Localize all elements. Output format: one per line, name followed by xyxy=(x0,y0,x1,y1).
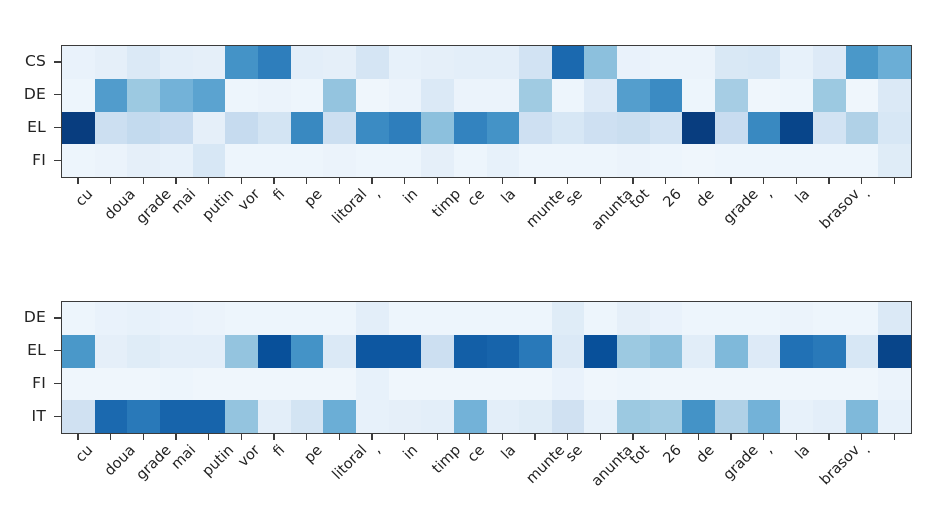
x-axis-tick-mark xyxy=(290,177,323,184)
x-axis-label-slot: munte xyxy=(518,185,551,255)
heatmap-cell xyxy=(291,144,324,177)
heatmap-cell xyxy=(421,335,454,368)
x-axis-tick-mark xyxy=(486,433,519,440)
heatmap-cell xyxy=(95,400,128,433)
x-axis-label-slot: vor xyxy=(224,441,257,511)
heatmap-cell xyxy=(127,112,160,145)
x-axis-label-slot: fi xyxy=(257,441,290,511)
y-axis-tick-mark xyxy=(54,111,61,144)
heatmap-cell xyxy=(519,46,552,79)
heatmap-cell xyxy=(356,112,389,145)
heatmap-cell xyxy=(95,368,128,401)
y-axis-tick-mark xyxy=(54,367,61,400)
x-axis-tick-label: , xyxy=(762,187,776,201)
x-axis-label-slot: munte xyxy=(518,441,551,511)
x-axis-tick-label: fi xyxy=(271,443,288,460)
x-axis-ticks-top xyxy=(61,177,910,184)
x-axis-tick-mark xyxy=(616,433,649,440)
x-axis-tick-label: la xyxy=(793,187,812,206)
heatmap-cell xyxy=(813,368,846,401)
heatmap-cell xyxy=(160,368,193,401)
heatmap-cell xyxy=(715,144,748,177)
heatmap-cell xyxy=(487,335,520,368)
heatmap-cell xyxy=(291,112,324,145)
heatmap-cell xyxy=(617,335,650,368)
x-axis-label-slot: litoral xyxy=(322,185,355,255)
heatmap-cell xyxy=(193,79,226,112)
x-axis-label-slot: timp xyxy=(420,441,453,511)
heatmap-cell xyxy=(519,335,552,368)
heatmap-cell xyxy=(682,335,715,368)
x-axis-tick-mark xyxy=(551,177,584,184)
heatmap-cell xyxy=(323,368,356,401)
x-axis-tick-mark xyxy=(126,433,159,440)
x-axis-tick-mark xyxy=(518,177,551,184)
heatmap-cell xyxy=(258,400,291,433)
heatmap-cell xyxy=(748,112,781,145)
y-axis-tick-label: CS xyxy=(0,45,52,78)
heatmap-cell xyxy=(813,335,846,368)
heatmap-cell xyxy=(62,302,95,335)
x-axis-tick-mark xyxy=(290,433,323,440)
heatmap-cell xyxy=(878,335,911,368)
heatmap-cells-bottom xyxy=(62,302,911,433)
x-axis-label-slot: la xyxy=(486,441,519,511)
y-axis-tick-mark xyxy=(54,45,61,78)
heatmap-plot-bottom xyxy=(61,301,912,434)
heatmap-cell xyxy=(650,112,683,145)
heatmap-cell xyxy=(650,368,683,401)
heatmap-cell xyxy=(487,144,520,177)
x-axis-label-slot: mai xyxy=(159,185,192,255)
heatmap-cell xyxy=(584,79,617,112)
y-axis-tick-label: IT xyxy=(0,399,52,432)
heatmap-cell xyxy=(748,46,781,79)
x-axis-label-slot: in xyxy=(388,185,421,255)
x-axis-label-slot: doua xyxy=(94,185,127,255)
x-axis-tick-mark xyxy=(779,433,812,440)
x-axis-tick-mark xyxy=(551,433,584,440)
heatmap-cell xyxy=(748,302,781,335)
heatmap-cell xyxy=(193,302,226,335)
heatmap-cell xyxy=(225,144,258,177)
heatmap-cell xyxy=(650,144,683,177)
heatmap-cell xyxy=(225,368,258,401)
x-axis-label-slot: vor xyxy=(224,185,257,255)
heatmap-cell xyxy=(193,112,226,145)
heatmap-cell xyxy=(780,368,813,401)
y-axis-ticks-top xyxy=(54,45,61,176)
heatmap-cell xyxy=(846,302,879,335)
x-axis-tick-label: in xyxy=(401,443,421,463)
x-axis-label-slot: timp xyxy=(420,185,453,255)
heatmap-cell xyxy=(519,368,552,401)
x-axis-label-slot: , xyxy=(355,441,388,511)
heatmap-cell xyxy=(160,400,193,433)
x-axis-tick-mark xyxy=(616,177,649,184)
x-axis-label-slot: putin xyxy=(192,441,225,511)
heatmap-cell xyxy=(421,400,454,433)
heatmap-cell xyxy=(454,302,487,335)
heatmap-cell xyxy=(160,112,193,145)
heatmap-cell xyxy=(356,79,389,112)
x-axis-label-slot xyxy=(877,185,910,255)
heatmap-cell xyxy=(258,335,291,368)
x-axis-tick-mark xyxy=(224,177,257,184)
x-axis-label-slot: ce xyxy=(453,441,486,511)
heatmap-cell xyxy=(193,144,226,177)
x-axis-tick-mark xyxy=(583,433,616,440)
heatmap-cell xyxy=(356,335,389,368)
heatmap-cell xyxy=(715,368,748,401)
x-axis-tick-label: , xyxy=(762,443,776,457)
heatmap-cell xyxy=(225,112,258,145)
x-axis-label-slot: in xyxy=(388,441,421,511)
x-axis-label-slot: fi xyxy=(257,185,290,255)
heatmap-cell xyxy=(95,335,128,368)
heatmap-cell xyxy=(780,400,813,433)
x-axis-tick-mark xyxy=(812,433,845,440)
heatmap-cell xyxy=(95,112,128,145)
x-axis-tick-mark xyxy=(845,433,878,440)
x-axis-label-slot: litoral xyxy=(322,441,355,511)
x-axis-tick-mark xyxy=(94,433,127,440)
x-axis-tick-mark xyxy=(747,177,780,184)
heatmap-cell xyxy=(62,144,95,177)
x-axis-labels-top: cudouagrademaiputinvorfipelitoral,intimp… xyxy=(61,185,910,255)
x-axis-tick-mark xyxy=(681,177,714,184)
heatmap-cell xyxy=(323,335,356,368)
heatmap-cell xyxy=(95,46,128,79)
x-axis-label-slot: 26 xyxy=(649,441,682,511)
heatmap-cell xyxy=(682,46,715,79)
heatmap-cell xyxy=(878,302,911,335)
x-axis-labels-bottom: cudouagrademaiputinvorfipelitoral,intimp… xyxy=(61,441,910,511)
x-axis-tick-mark xyxy=(681,433,714,440)
heatmap-cell xyxy=(813,112,846,145)
heatmap-cell xyxy=(160,335,193,368)
heatmap-cell xyxy=(748,400,781,433)
heatmap-cell xyxy=(389,335,422,368)
x-axis-tick-mark xyxy=(126,177,159,184)
x-axis-tick-label: la xyxy=(793,443,812,462)
x-axis-tick-mark xyxy=(388,433,421,440)
x-axis-label-slot: 26 xyxy=(649,185,682,255)
x-axis-label-slot: . xyxy=(845,185,878,255)
heatmap-cell xyxy=(813,46,846,79)
x-axis-tick-mark xyxy=(159,177,192,184)
y-axis-tick-mark xyxy=(54,78,61,111)
heatmap-cell xyxy=(127,144,160,177)
heatmap-cell xyxy=(617,46,650,79)
heatmap-cell xyxy=(617,112,650,145)
x-axis-tick-mark xyxy=(355,177,388,184)
x-axis-tick-mark xyxy=(747,433,780,440)
heatmap-cell xyxy=(878,79,911,112)
y-axis-labels-top: CSDEELFI xyxy=(0,45,52,176)
x-axis-tick-mark xyxy=(224,433,257,440)
x-axis-label-slot: , xyxy=(747,185,780,255)
heatmap-cell xyxy=(454,46,487,79)
x-axis-tick-mark xyxy=(453,177,486,184)
heatmap-cell xyxy=(617,79,650,112)
x-axis-tick-mark xyxy=(486,177,519,184)
heatmap-cell xyxy=(519,144,552,177)
heatmap-cell xyxy=(225,46,258,79)
heatmap-cell xyxy=(160,79,193,112)
heatmap-cell xyxy=(780,46,813,79)
x-axis-tick-mark xyxy=(388,177,421,184)
x-axis-label-slot: anunta xyxy=(583,441,616,511)
x-axis-tick-mark xyxy=(877,433,910,440)
heatmap-cell xyxy=(291,335,324,368)
heatmap-cell xyxy=(584,400,617,433)
heatmap-panel-bottom: DEELFIIT cudouagrademaiputinvorfipelitor… xyxy=(0,256,942,512)
heatmap-cell xyxy=(258,368,291,401)
x-axis-label-slot: pe xyxy=(290,441,323,511)
heatmap-cell xyxy=(487,302,520,335)
x-axis-tick-label: se xyxy=(564,443,586,465)
heatmap-cell xyxy=(748,335,781,368)
x-axis-tick-label: la xyxy=(499,443,518,462)
heatmap-cell xyxy=(95,302,128,335)
x-axis-label-slot: anunta xyxy=(583,185,616,255)
y-axis-tick-label: FI xyxy=(0,143,52,176)
x-axis-label-slot: la xyxy=(486,185,519,255)
heatmap-cell xyxy=(748,368,781,401)
heatmap-cell xyxy=(780,302,813,335)
x-axis-tick-label: . xyxy=(860,187,874,201)
x-axis-tick-label: la xyxy=(499,187,518,206)
heatmap-cell xyxy=(846,112,879,145)
heatmap-cell xyxy=(519,400,552,433)
y-axis-tick-label: FI xyxy=(0,367,52,400)
heatmap-cell xyxy=(878,144,911,177)
heatmap-cell xyxy=(682,112,715,145)
heatmap-cell xyxy=(813,400,846,433)
heatmap-cell xyxy=(813,302,846,335)
heatmap-cell xyxy=(62,368,95,401)
heatmap-cell xyxy=(258,79,291,112)
y-axis-tick-label: DE xyxy=(0,78,52,111)
heatmap-cell xyxy=(127,302,160,335)
heatmap-cell xyxy=(519,79,552,112)
heatmap-cell xyxy=(193,335,226,368)
heatmap-cell xyxy=(650,302,683,335)
heatmap-cell xyxy=(225,302,258,335)
heatmap-cell xyxy=(95,144,128,177)
heatmap-cell xyxy=(291,302,324,335)
heatmap-cell xyxy=(421,144,454,177)
heatmap-cell xyxy=(650,335,683,368)
heatmap-cell xyxy=(160,302,193,335)
y-axis-ticks-bottom xyxy=(54,301,61,432)
heatmap-cell xyxy=(454,144,487,177)
heatmap-cell xyxy=(650,79,683,112)
heatmap-cell xyxy=(127,400,160,433)
heatmap-cell xyxy=(389,368,422,401)
x-axis-label-slot: , xyxy=(747,441,780,511)
heatmap-cell xyxy=(291,400,324,433)
heatmap-cell xyxy=(748,79,781,112)
heatmap-cell xyxy=(487,79,520,112)
x-axis-tick-mark xyxy=(420,177,453,184)
x-axis-label-slot: de xyxy=(681,185,714,255)
x-axis-label-slot: se xyxy=(551,185,584,255)
x-axis-label-slot: brasov xyxy=(812,441,845,511)
heatmap-cell xyxy=(291,46,324,79)
heatmap-cell xyxy=(62,79,95,112)
heatmap-cell xyxy=(421,79,454,112)
heatmap-cell xyxy=(258,112,291,145)
heatmap-cell xyxy=(487,368,520,401)
heatmap-cell xyxy=(552,144,585,177)
heatmap-cell xyxy=(389,144,422,177)
heatmap-cell xyxy=(389,79,422,112)
heatmap-cell xyxy=(454,335,487,368)
heatmap-cell xyxy=(584,302,617,335)
y-axis-tick-mark xyxy=(54,143,61,176)
y-axis-tick-label: EL xyxy=(0,111,52,144)
heatmap-cell xyxy=(323,46,356,79)
x-axis-label-slot: grade xyxy=(126,441,159,511)
heatmap-cell xyxy=(487,46,520,79)
heatmap-cell xyxy=(127,335,160,368)
x-axis-tick-mark xyxy=(583,177,616,184)
x-axis-tick-mark xyxy=(649,177,682,184)
x-axis-tick-label: . xyxy=(860,443,874,457)
heatmap-cell xyxy=(617,368,650,401)
y-axis-tick-mark xyxy=(54,301,61,334)
x-axis-label-slot: grade xyxy=(714,441,747,511)
heatmap-cell xyxy=(487,400,520,433)
heatmap-cell xyxy=(715,46,748,79)
heatmap-cell xyxy=(62,46,95,79)
y-axis-tick-mark xyxy=(54,399,61,432)
heatmap-cell xyxy=(584,46,617,79)
heatmap-cell xyxy=(682,144,715,177)
heatmap-cell xyxy=(715,112,748,145)
heatmap-cell xyxy=(813,79,846,112)
heatmap-cell xyxy=(193,368,226,401)
x-axis-label-slot: tot xyxy=(616,441,649,511)
heatmap-cell xyxy=(878,368,911,401)
x-axis-tick-mark xyxy=(714,177,747,184)
x-axis-label-slot: grade xyxy=(126,185,159,255)
heatmap-cell xyxy=(584,368,617,401)
x-axis-label-slot: putin xyxy=(192,185,225,255)
heatmap-panel-top: CSDEELFI cudouagrademaiputinvorfipelitor… xyxy=(0,0,942,256)
x-axis-tick-mark xyxy=(192,177,225,184)
heatmap-cell xyxy=(127,46,160,79)
x-axis-label-slot: . xyxy=(845,441,878,511)
x-axis-label-slot: cu xyxy=(61,441,94,511)
x-axis-tick-mark xyxy=(779,177,812,184)
heatmap-cell xyxy=(682,79,715,112)
heatmap-cell xyxy=(225,400,258,433)
x-axis-tick-mark xyxy=(159,433,192,440)
x-axis-tick-mark xyxy=(322,433,355,440)
heatmap-cell xyxy=(552,112,585,145)
heatmap-cell xyxy=(552,79,585,112)
heatmap-cell xyxy=(421,302,454,335)
heatmap-cell xyxy=(421,368,454,401)
heatmap-cell xyxy=(258,302,291,335)
heatmap-cell xyxy=(454,368,487,401)
x-axis-tick-mark xyxy=(355,433,388,440)
heatmap-cell xyxy=(617,302,650,335)
x-axis-tick-mark xyxy=(877,177,910,184)
x-axis-tick-label: in xyxy=(401,187,421,207)
x-axis-tick-mark xyxy=(61,433,94,440)
heatmap-cell xyxy=(225,335,258,368)
heatmap-cell xyxy=(519,112,552,145)
x-axis-ticks-bottom xyxy=(61,433,910,440)
heatmap-cell xyxy=(323,144,356,177)
figure-canvas: CSDEELFI cudouagrademaiputinvorfipelitor… xyxy=(0,0,942,512)
x-axis-label-slot: ce xyxy=(453,185,486,255)
heatmap-cell xyxy=(617,144,650,177)
x-axis-label-slot xyxy=(877,441,910,511)
x-axis-label-slot: mai xyxy=(159,441,192,511)
heatmap-cell xyxy=(389,112,422,145)
heatmap-cell xyxy=(323,302,356,335)
heatmap-cell xyxy=(62,335,95,368)
heatmap-cell xyxy=(552,335,585,368)
heatmap-cell xyxy=(323,79,356,112)
heatmap-cell xyxy=(487,112,520,145)
x-axis-tick-mark xyxy=(649,433,682,440)
heatmap-cell xyxy=(682,400,715,433)
heatmap-cell xyxy=(62,400,95,433)
heatmap-cell xyxy=(878,46,911,79)
x-axis-tick-label: se xyxy=(564,187,586,209)
heatmap-cell xyxy=(715,400,748,433)
heatmap-cell xyxy=(682,368,715,401)
x-axis-label-slot: tot xyxy=(616,185,649,255)
heatmap-cell xyxy=(193,400,226,433)
heatmap-cell xyxy=(421,46,454,79)
x-axis-label-slot: grade xyxy=(714,185,747,255)
heatmap-cell xyxy=(846,368,879,401)
heatmap-cell xyxy=(95,79,128,112)
x-axis-tick-label: , xyxy=(370,187,384,201)
heatmap-cell xyxy=(323,400,356,433)
heatmap-cell xyxy=(780,335,813,368)
heatmap-cell xyxy=(291,368,324,401)
x-axis-tick-mark xyxy=(714,433,747,440)
x-axis-tick-mark xyxy=(257,177,290,184)
heatmap-cell xyxy=(291,79,324,112)
heatmap-cell xyxy=(389,46,422,79)
heatmap-cell xyxy=(552,368,585,401)
heatmap-cell xyxy=(715,335,748,368)
heatmap-cell xyxy=(878,400,911,433)
heatmap-cell xyxy=(682,302,715,335)
x-axis-label-slot: de xyxy=(681,441,714,511)
heatmap-cell xyxy=(584,335,617,368)
x-axis-label-slot: doua xyxy=(94,441,127,511)
heatmap-cell xyxy=(780,144,813,177)
heatmap-cell xyxy=(650,46,683,79)
heatmap-cell xyxy=(878,112,911,145)
x-axis-tick-mark xyxy=(257,433,290,440)
heatmap-cell xyxy=(258,46,291,79)
heatmap-cell xyxy=(160,46,193,79)
heatmap-cell xyxy=(421,112,454,145)
y-axis-tick-label: EL xyxy=(0,334,52,367)
heatmap-cell xyxy=(552,400,585,433)
